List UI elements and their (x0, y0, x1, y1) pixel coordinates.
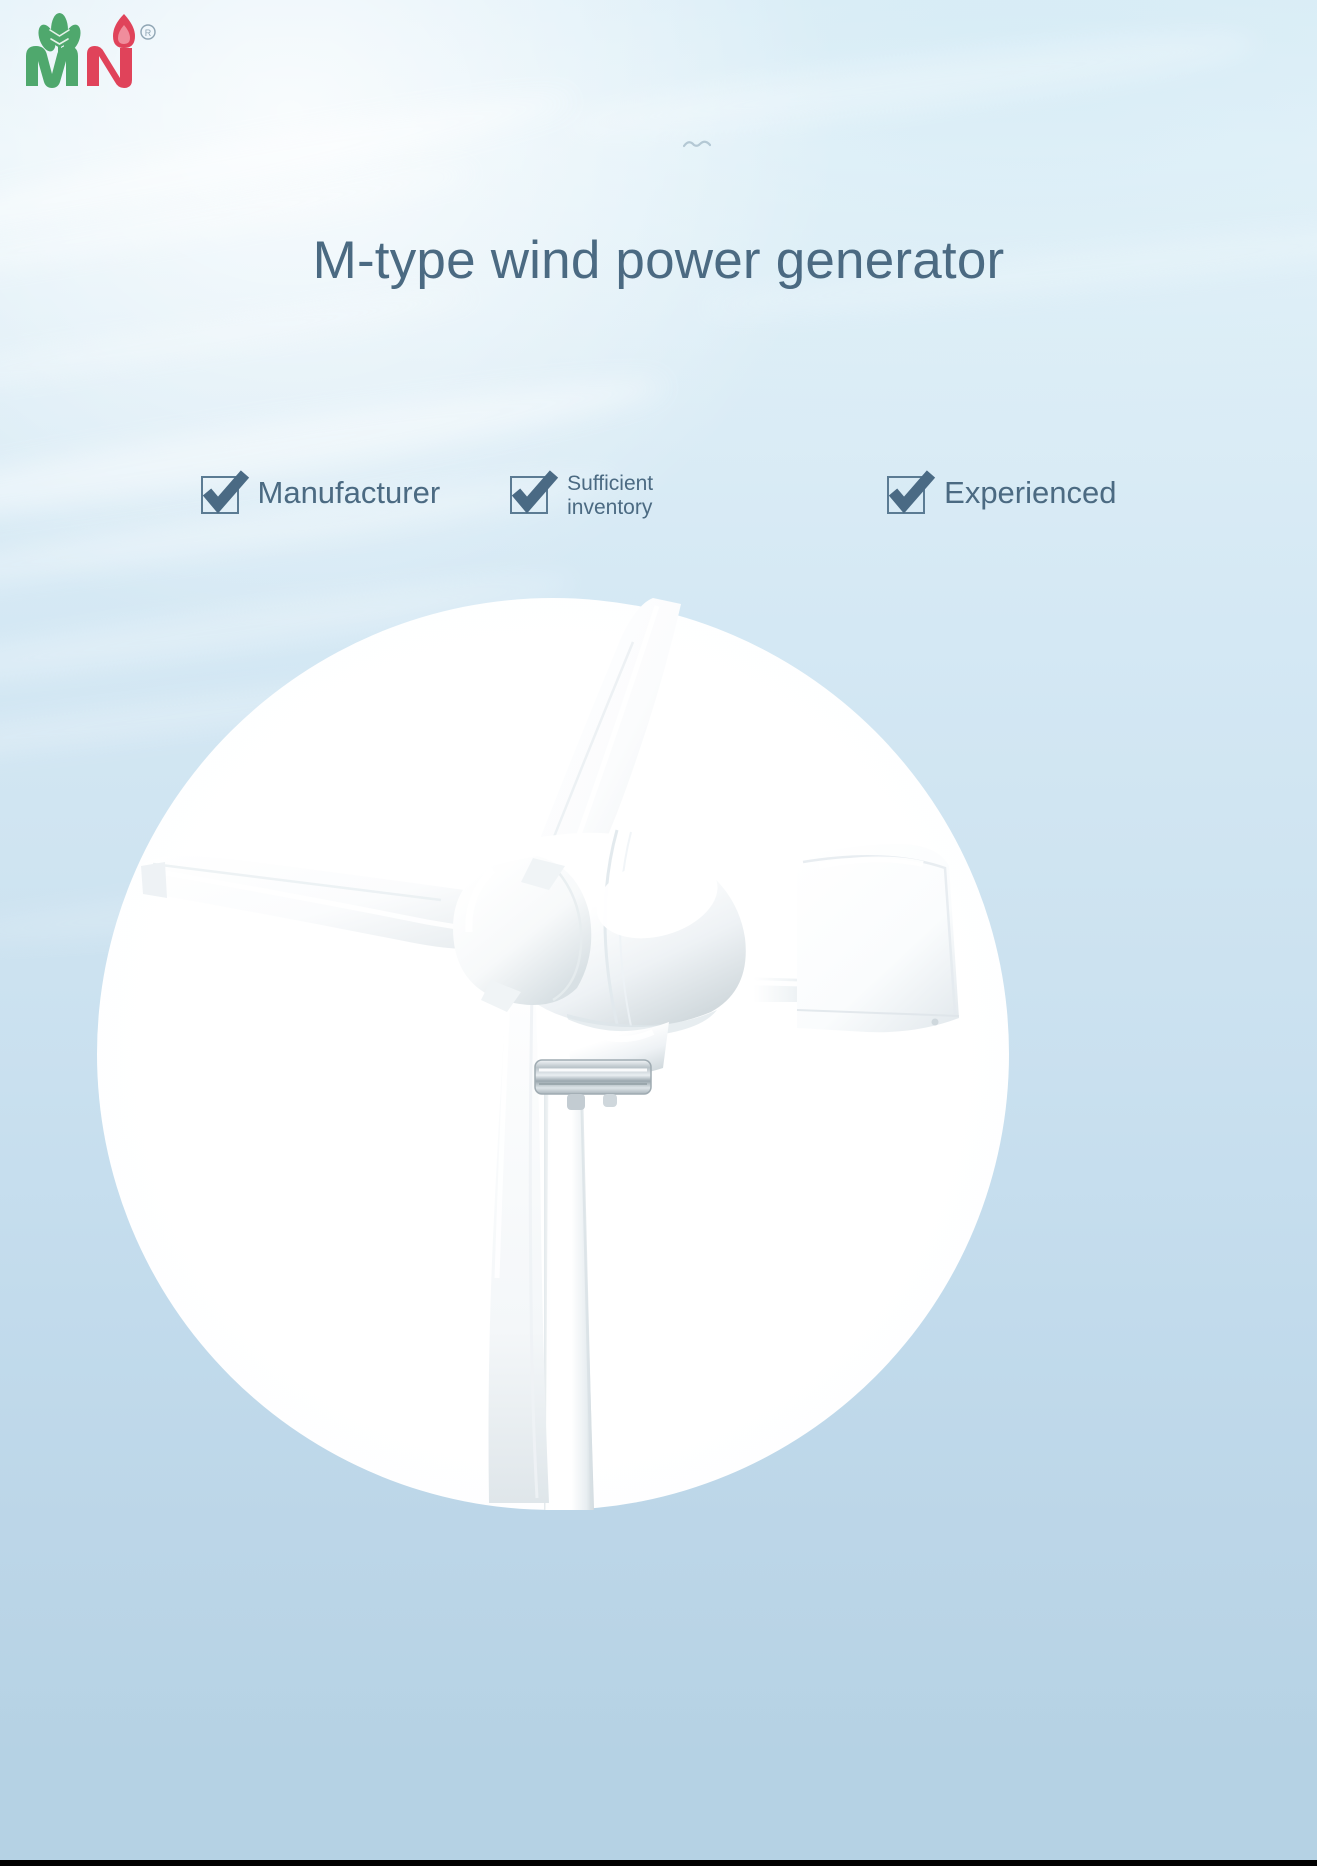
feature-badge-sufficient-inventory[interactable]: Sufficient inventory (510, 466, 737, 520)
blade-left (141, 856, 501, 949)
wind-turbine-illustration (97, 598, 1009, 1510)
bird-icon (683, 138, 711, 150)
page-title: M-type wind power generator (0, 230, 1317, 291)
feature-badge-label: Manufacturer (245, 477, 441, 508)
blade-lower (489, 928, 550, 1503)
logo-letter-n (87, 46, 132, 88)
logo-letter-m (26, 46, 78, 88)
svg-text:R: R (145, 28, 152, 38)
product-image[interactable] (97, 598, 1009, 1510)
checkbox-checked-icon (201, 470, 245, 514)
brand-logo[interactable]: R (14, 8, 166, 94)
feature-badge-manufacturer[interactable]: Manufacturer (201, 466, 441, 514)
flame-icon (113, 14, 135, 48)
hub-nose-cone (453, 856, 591, 1012)
registered-trademark-icon: R (141, 25, 155, 39)
feature-badge-label: Experienced (931, 477, 1116, 508)
bottom-edge-strip (0, 1860, 1317, 1866)
checkbox-checked-icon (510, 470, 554, 514)
feature-badge-experienced[interactable]: Experienced (887, 466, 1116, 514)
tail-fin (797, 844, 959, 1032)
feature-badge-row: Manufacturer Sufficient inventory Experi… (0, 466, 1317, 546)
bottom-color-band (0, 1690, 1317, 1860)
mast-pole (544, 1068, 594, 1510)
checkbox-checked-icon (887, 470, 931, 514)
feature-badge-label: Sufficient inventory (554, 472, 737, 520)
